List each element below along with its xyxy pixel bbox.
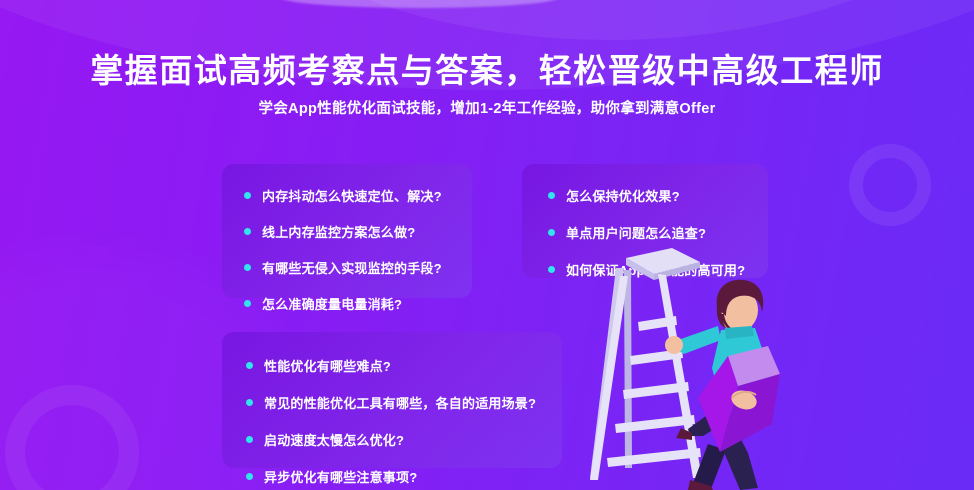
list-item: 常见的性能优化工具有哪些，各自的适用场景? [246, 393, 562, 412]
question-text: 内存抖动怎么快速定位、解决? [262, 186, 442, 205]
list-item: 启动速度太慢怎么优化? [246, 430, 562, 449]
decorative-ring-right [849, 144, 931, 226]
bullet-dot-icon [548, 266, 555, 273]
list-item: 怎么保持优化效果? [548, 186, 768, 205]
list-item: 性能优化有哪些难点? [246, 356, 562, 375]
question-list-memory: 内存抖动怎么快速定位、解决? 线上内存监控方案怎么做? 有哪些无侵入实现监控的手… [222, 164, 472, 313]
question-text: 常见的性能优化工具有哪些，各自的适用场景? [264, 393, 536, 412]
bullet-dot-icon [244, 228, 251, 235]
question-text: 单点用户问题怎么追查? [566, 223, 706, 242]
background-arc-top-inner [160, 0, 974, 40]
question-text: 线上内存监控方案怎么做? [262, 222, 415, 241]
question-text: 异步优化有哪些注意事项? [264, 467, 417, 486]
background-arc-highlight [280, 0, 560, 8]
bullet-dot-icon [548, 229, 555, 236]
question-card-memory: 内存抖动怎么快速定位、解决? 线上内存监控方案怎么做? 有哪些无侵入实现监控的手… [222, 164, 472, 298]
ladder-icon [590, 248, 702, 480]
question-text: 启动速度太慢怎么优化? [264, 430, 404, 449]
illustration-person-climbing-ladder [580, 248, 810, 490]
list-item: 单点用户问题怎么追查? [548, 223, 768, 242]
bullet-dot-icon [246, 436, 253, 443]
list-item: 有哪些无侵入实现监控的手段? [244, 258, 472, 277]
question-text: 有哪些无侵入实现监控的手段? [262, 258, 442, 277]
banner-subtitle: 学会App性能优化面试技能，增加1-2年工作经验，助你拿到满意Offer [0, 97, 974, 118]
bullet-dot-icon [548, 192, 555, 199]
question-text: 性能优化有哪些难点? [264, 356, 391, 375]
bullet-dot-icon [244, 192, 251, 199]
bullet-dot-icon [244, 300, 251, 307]
bullet-dot-icon [246, 399, 253, 406]
question-list-performance: 性能优化有哪些难点? 常见的性能优化工具有哪些，各自的适用场景? 启动速度太慢怎… [222, 332, 562, 486]
list-item: 线上内存监控方案怎么做? [244, 222, 472, 241]
question-text: 怎么准确度量电量消耗? [262, 294, 402, 313]
banner-title: 掌握面试高频考察点与答案，轻松晋级中高级工程师 [0, 44, 974, 92]
question-text: 怎么保持优化效果? [566, 186, 680, 205]
bullet-dot-icon [246, 473, 253, 480]
question-card-performance: 性能优化有哪些难点? 常见的性能优化工具有哪些，各自的适用场景? 启动速度太慢怎… [222, 332, 562, 468]
promo-banner: 掌握面试高频考察点与答案，轻松晋级中高级工程师 学会App性能优化面试技能，增加… [0, 0, 974, 490]
list-item: 怎么准确度量电量消耗? [244, 294, 472, 313]
list-item: 内存抖动怎么快速定位、解决? [244, 186, 472, 205]
list-item: 异步优化有哪些注意事项? [246, 467, 562, 486]
bullet-dot-icon [244, 264, 251, 271]
bullet-dot-icon [246, 362, 253, 369]
decorative-ring-left [5, 385, 139, 490]
